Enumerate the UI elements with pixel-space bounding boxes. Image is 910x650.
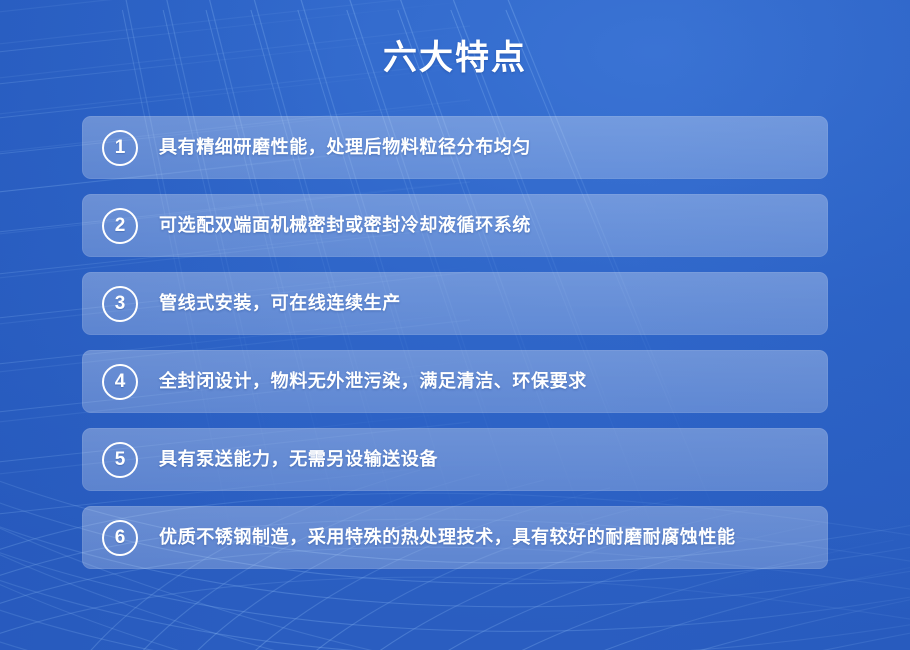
feature-number-badge: 6 <box>102 520 138 556</box>
feature-number-badge: 3 <box>102 286 138 322</box>
feature-text: 优质不锈钢制造，采用特殊的热处理技术，具有较好的耐磨耐腐蚀性能 <box>159 526 736 549</box>
feature-text: 具有精细研磨性能，处理后物料粒径分布均匀 <box>159 136 531 159</box>
feature-number-badge: 4 <box>102 364 138 400</box>
feature-text: 可选配双端面机械密封或密封冷却液循环系统 <box>159 214 531 237</box>
feature-list: 1 具有精细研磨性能，处理后物料粒径分布均匀 2 可选配双端面机械密封或密封冷却… <box>82 116 828 569</box>
page-title: 六大特点 <box>0 38 910 79</box>
feature-row[interactable]: 4 全封闭设计，物料无外泄污染，满足清洁、环保要求 <box>82 350 828 413</box>
feature-text: 全封闭设计，物料无外泄污染，满足清洁、环保要求 <box>159 370 587 393</box>
feature-row[interactable]: 6 优质不锈钢制造，采用特殊的热处理技术，具有较好的耐磨耐腐蚀性能 <box>82 506 828 569</box>
feature-text: 具有泵送能力，无需另设输送设备 <box>159 448 438 471</box>
feature-number-badge: 5 <box>102 442 138 478</box>
feature-row[interactable]: 5 具有泵送能力，无需另设输送设备 <box>82 428 828 491</box>
feature-row[interactable]: 3 管线式安装，可在线连续生产 <box>82 272 828 335</box>
feature-number-badge: 2 <box>102 208 138 244</box>
feature-number-badge: 1 <box>102 130 138 166</box>
feature-row[interactable]: 2 可选配双端面机械密封或密封冷却液循环系统 <box>82 194 828 257</box>
feature-text: 管线式安装，可在线连续生产 <box>159 292 401 315</box>
poster-content: 六大特点 1 具有精细研磨性能，处理后物料粒径分布均匀 2 可选配双端面机械密封… <box>0 0 910 650</box>
feature-poster: 六大特点 1 具有精细研磨性能，处理后物料粒径分布均匀 2 可选配双端面机械密封… <box>0 0 910 650</box>
feature-row[interactable]: 1 具有精细研磨性能，处理后物料粒径分布均匀 <box>82 116 828 179</box>
